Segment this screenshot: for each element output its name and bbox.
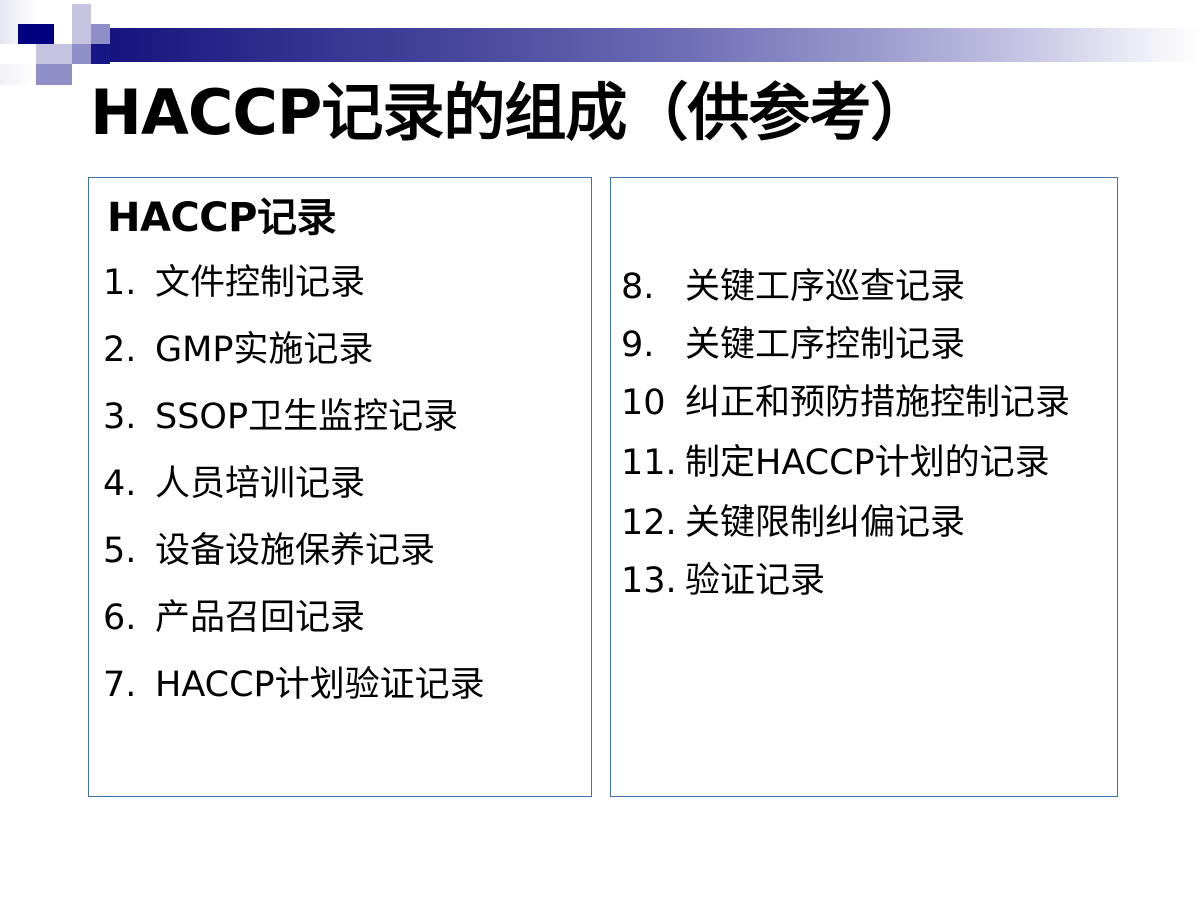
list-item-number: 6. [103, 585, 149, 652]
decor-square-mid-2 [72, 44, 91, 64]
list-item-number: 12. [621, 494, 679, 552]
list-item-number: 10 [621, 374, 679, 432]
decor-square-mid-3 [36, 64, 72, 85]
list-item-number: 8. [621, 258, 679, 316]
list-item: 6. 产品召回记录 [103, 585, 581, 652]
page-title: HACCP记录的组成（供参考） [90, 76, 1110, 150]
decor-square-mid-1 [91, 24, 110, 44]
right-content-box: 8. 关键工序巡查记录 9. 关键工序控制记录 10 纠正和预防措施控制记录 1… [610, 177, 1118, 797]
list-item-label: 关键工序控制记录 [685, 316, 1109, 374]
list-item-label: 纠正和预防措施控制记录 [685, 374, 1109, 432]
list-item: 8. 关键工序巡查记录 [621, 258, 1109, 316]
list-item-number: 2. [103, 317, 149, 384]
decor-square-light-3 [36, 44, 72, 64]
left-record-list: 1. 文件控制记录 2. GMP实施记录 3. SSOP卫生监控记录 4. 人员… [103, 250, 581, 719]
left-content-box: HACCP记录 1. 文件控制记录 2. GMP实施记录 3. SSOP卫生监控… [88, 177, 592, 797]
header-gradient-bar [33, 28, 1200, 62]
decor-square-light-2 [72, 24, 91, 44]
list-item-label: HACCP计划验证记录 [155, 652, 581, 719]
list-item: 1. 文件控制记录 [103, 250, 581, 317]
list-item-number: 1. [103, 250, 149, 317]
list-item: 4. 人员培训记录 [103, 451, 581, 518]
list-item-number: 7. [103, 652, 149, 719]
list-item: 5. 设备设施保养记录 [103, 518, 581, 585]
list-item: 10 纠正和预防措施控制记录 [621, 374, 1109, 432]
list-item: 12. 关键限制纠偏记录 [621, 494, 1109, 552]
list-item: 11. 制定HACCP计划的记录 [621, 434, 1109, 492]
list-item-label: 产品召回记录 [155, 585, 581, 652]
left-box-heading: HACCP记录 [107, 192, 581, 244]
list-item-label: 关键工序巡查记录 [685, 258, 1109, 316]
right-record-list: 8. 关键工序巡查记录 9. 关键工序控制记录 10 纠正和预防措施控制记录 1… [621, 258, 1109, 610]
decor-square-light-1 [72, 4, 91, 24]
header-decoration [0, 0, 1200, 80]
list-item-number: 13. [621, 552, 679, 610]
list-item: 2. GMP实施记录 [103, 317, 581, 384]
list-item: 7. HACCP计划验证记录 [103, 652, 581, 719]
decor-square-white-1 [54, 24, 72, 44]
list-item-label: SSOP卫生监控记录 [155, 384, 581, 451]
decor-square-dark-1 [91, 44, 110, 64]
list-item-label: GMP实施记录 [155, 317, 581, 384]
list-item: 9. 关键工序控制记录 [621, 316, 1109, 374]
decor-square-white-2 [0, 44, 36, 64]
list-item-label: 文件控制记录 [155, 250, 581, 317]
list-item-number: 9. [621, 316, 679, 374]
list-item-number: 5. [103, 518, 149, 585]
list-item-label: 关键限制纠偏记录 [685, 494, 1109, 552]
list-item-label: 验证记录 [685, 552, 1109, 610]
list-item-label: 设备设施保养记录 [155, 518, 581, 585]
decor-square-white-4 [0, 64, 36, 85]
list-item-label: 人员培训记录 [155, 451, 581, 518]
list-item-number: 3. [103, 384, 149, 451]
list-item-label: 制定HACCP计划的记录 [685, 434, 1109, 492]
list-item-number: 11. [621, 434, 679, 492]
list-item-number: 4. [103, 451, 149, 518]
list-item: 13. 验证记录 [621, 552, 1109, 610]
list-item: 3. SSOP卫生监控记录 [103, 384, 581, 451]
decor-square-navy-1 [18, 24, 54, 44]
